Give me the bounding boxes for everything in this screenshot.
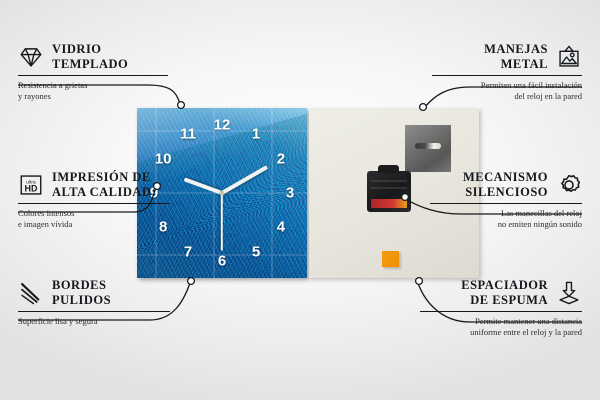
quartz-mechanism-box — [367, 171, 411, 212]
callout-title: ESPACIADOR DE ESPUMA — [461, 278, 548, 308]
callout-title: IMPRESIÓN DE ALTA CALIDAD — [52, 170, 151, 200]
callout-title: MANEJAS METAL — [484, 42, 548, 72]
callout-mecanismo-silencioso[interactable]: MECANISMO SILENCIOSO Las manecillas del … — [430, 170, 582, 230]
picture-hanger-icon — [556, 44, 582, 70]
callout-description: Superficie lisa y segura — [18, 316, 170, 327]
callout-bordes-pulidos[interactable]: BORDES PULIDOS Superficie lisa y segura — [18, 278, 170, 327]
clock-numeral: 12 — [214, 118, 231, 133]
clock-minute-hand — [221, 165, 268, 194]
callout-divider — [18, 203, 170, 205]
clock-numeral: 4 — [277, 220, 285, 235]
foam-spacer-piece — [382, 251, 399, 267]
callout-divider — [420, 311, 582, 313]
callout-vidrio-templado[interactable]: VIDRIO TEMPLADO Resistencia a grietas y … — [18, 42, 168, 102]
callout-manejas-metal[interactable]: MANEJAS METAL Permiten una fácil instala… — [432, 42, 582, 102]
metal-hanger-plate — [405, 125, 451, 172]
callout-header: MECANISMO SILENCIOSO — [430, 170, 582, 200]
callout-title: VIDRIO TEMPLADO — [52, 42, 128, 72]
clock-center-pivot — [220, 191, 225, 196]
clock-hour-hand — [184, 177, 223, 194]
mechanism-detail-line — [371, 187, 407, 189]
battery-compartment — [371, 199, 407, 208]
callout-description: Las manecillas del reloj no emiten ningú… — [430, 208, 582, 230]
ultra-hd-icon-large-label: HD — [25, 183, 38, 193]
callout-header: VIDRIO TEMPLADO — [18, 42, 168, 72]
clock-numeral: 11 — [180, 127, 196, 142]
clock-numeral: 5 — [252, 244, 260, 259]
callout-description: Colores intensos e imagen vívida — [18, 208, 170, 230]
callout-impresion-alta-calidad[interactable]: ultra HD IMPRESIÓN DE ALTA CALIDAD Color… — [18, 170, 170, 230]
clock-numeral: 6 — [218, 254, 226, 269]
ultra-hd-icon: ultra HD — [18, 172, 44, 198]
callout-description: Permiten una fácil instalación del reloj… — [432, 80, 582, 102]
clock-numeral: 10 — [155, 152, 172, 167]
callout-description: Resistencia a grietas y rayones — [18, 80, 168, 102]
connector-dot-bordes — [188, 278, 195, 285]
callout-divider — [18, 311, 170, 313]
foam-spacer-icon — [556, 280, 582, 306]
diamond-icon — [18, 44, 44, 70]
callout-title: MECANISMO SILENCIOSO — [463, 170, 548, 200]
clock-numeral: 2 — [277, 152, 285, 167]
callout-description: Permite mantener una distancia uniforme … — [420, 316, 582, 338]
callout-title: BORDES PULIDOS — [52, 278, 111, 308]
clock-numeral: 7 — [184, 244, 192, 259]
mechanism-detail-line — [371, 180, 407, 182]
callout-divider — [432, 75, 582, 77]
mechanism-hook — [378, 165, 399, 173]
callout-header: ESPACIADOR DE ESPUMA — [420, 278, 582, 308]
callout-header: MANEJAS METAL — [432, 42, 582, 72]
callout-header: ultra HD IMPRESIÓN DE ALTA CALIDAD — [18, 170, 170, 200]
infographic-stage: 121234567891011 — [0, 0, 600, 400]
clock-second-hand — [221, 193, 223, 251]
callout-divider — [430, 203, 582, 205]
hanger-slot — [415, 143, 441, 149]
clock-numeral: 1 — [252, 127, 260, 142]
gear-icon — [556, 172, 582, 198]
callout-espaciador-espuma[interactable]: ESPACIADOR DE ESPUMA Permite mantener un… — [420, 278, 582, 338]
clock-numeral: 3 — [286, 186, 294, 201]
callout-divider — [18, 75, 168, 77]
callout-header: BORDES PULIDOS — [18, 278, 170, 308]
beveled-edge-icon — [18, 280, 44, 306]
